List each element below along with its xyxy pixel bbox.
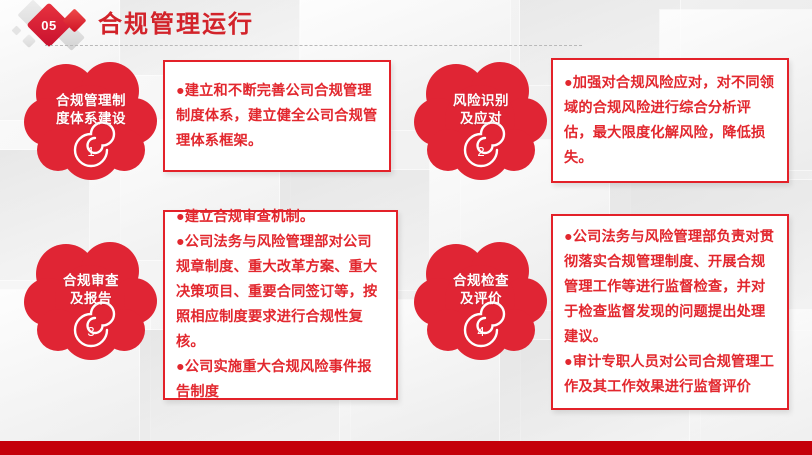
cloud-number-2: 2 [414,144,548,159]
cloud-number-3: 3 [24,324,158,339]
cloud-badge-4[interactable]: 合规检查 及评价 4 [414,238,548,362]
cloud-label-4: 合规检查 及评价 [414,272,548,308]
cloud-label-3-line1: 合规审查 [24,272,158,290]
cloud-label-3-line2: 及报告 [24,290,158,308]
cloud-label-2-line1: 风险识别 [414,92,548,110]
cloud-badge-3[interactable]: 合规审查 及报告 3 [24,238,158,362]
dashed-divider-icon [45,45,582,46]
content-box-3-line-2: ●公司法务与风险管理部对公司规章制度、重大改革方案、重大决策项目、重要合同签订等… [176,230,385,355]
footer-accent-bar [0,441,812,455]
page-title: 合规管理运行 [98,8,254,42]
cloud-label-1-line1: 合规管理制 [24,92,158,110]
cloud-number-1: 1 [24,144,158,159]
content-box-3-line-1: ●建立合规审查机制。 [176,205,385,230]
slide-header: 05 合规管理运行 [0,0,812,52]
cloud-badge-2[interactable]: 风险识别 及应对 2 [414,58,548,182]
cloud-label-4-line2: 及评价 [414,290,548,308]
cloud-label-2-line2: 及应对 [414,110,548,128]
decor-diamond-gray-4 [12,26,22,36]
content-box-1-line-1: ●建立和不断完善公司合规管理制度体系，建立健全公司合规管理体系框架。 [176,79,378,154]
content-box-4-line-1: ●公司法务与风险管理部负责对贯彻落实合规管理制度、开展合规管理工作等进行监督检查… [564,225,776,350]
cloud-label-4-line1: 合规检查 [414,272,548,290]
content-box-3-line-3: ●公司实施重大合规风险事件报告制度 [176,355,385,405]
cloud-number-4: 4 [414,324,548,339]
cloud-label-3: 合规审查 及报告 [24,272,158,308]
section-number: 05 [33,9,65,41]
content-box-3: ●建立合规审查机制。 ●公司法务与风险管理部对公司规章制度、重大改革方案、重大决… [163,210,398,400]
content-box-1: ●建立和不断完善公司合规管理制度体系，建立健全公司合规管理体系框架。 [163,60,391,172]
cloud-label-1: 合规管理制 度体系建设 [24,92,158,128]
content-box-2-line-1: ●加强对合规风险应对，对不同领域的合规风险进行综合分析评估，最大限度化解风险，降… [564,71,776,171]
cloud-label-1-line2: 度体系建设 [24,110,158,128]
cloud-badge-1[interactable]: 合规管理制 度体系建设 1 [24,58,158,182]
slide-canvas: 05 合规管理运行 合规管理制 度体系建设 1 [0,0,812,455]
content-box-2: ●加强对合规风险应对，对不同领域的合规风险进行综合分析评估，最大限度化解风险，降… [551,58,789,183]
cloud-label-2: 风险识别 及应对 [414,92,548,128]
content-box-4: ●公司法务与风险管理部负责对贯彻落实合规管理制度、开展合规管理工作等进行监督检查… [551,214,789,410]
content-box-4-line-2: ●审计专职人员对公司合规管理工作及其工作效果进行监督评价 [564,350,776,400]
